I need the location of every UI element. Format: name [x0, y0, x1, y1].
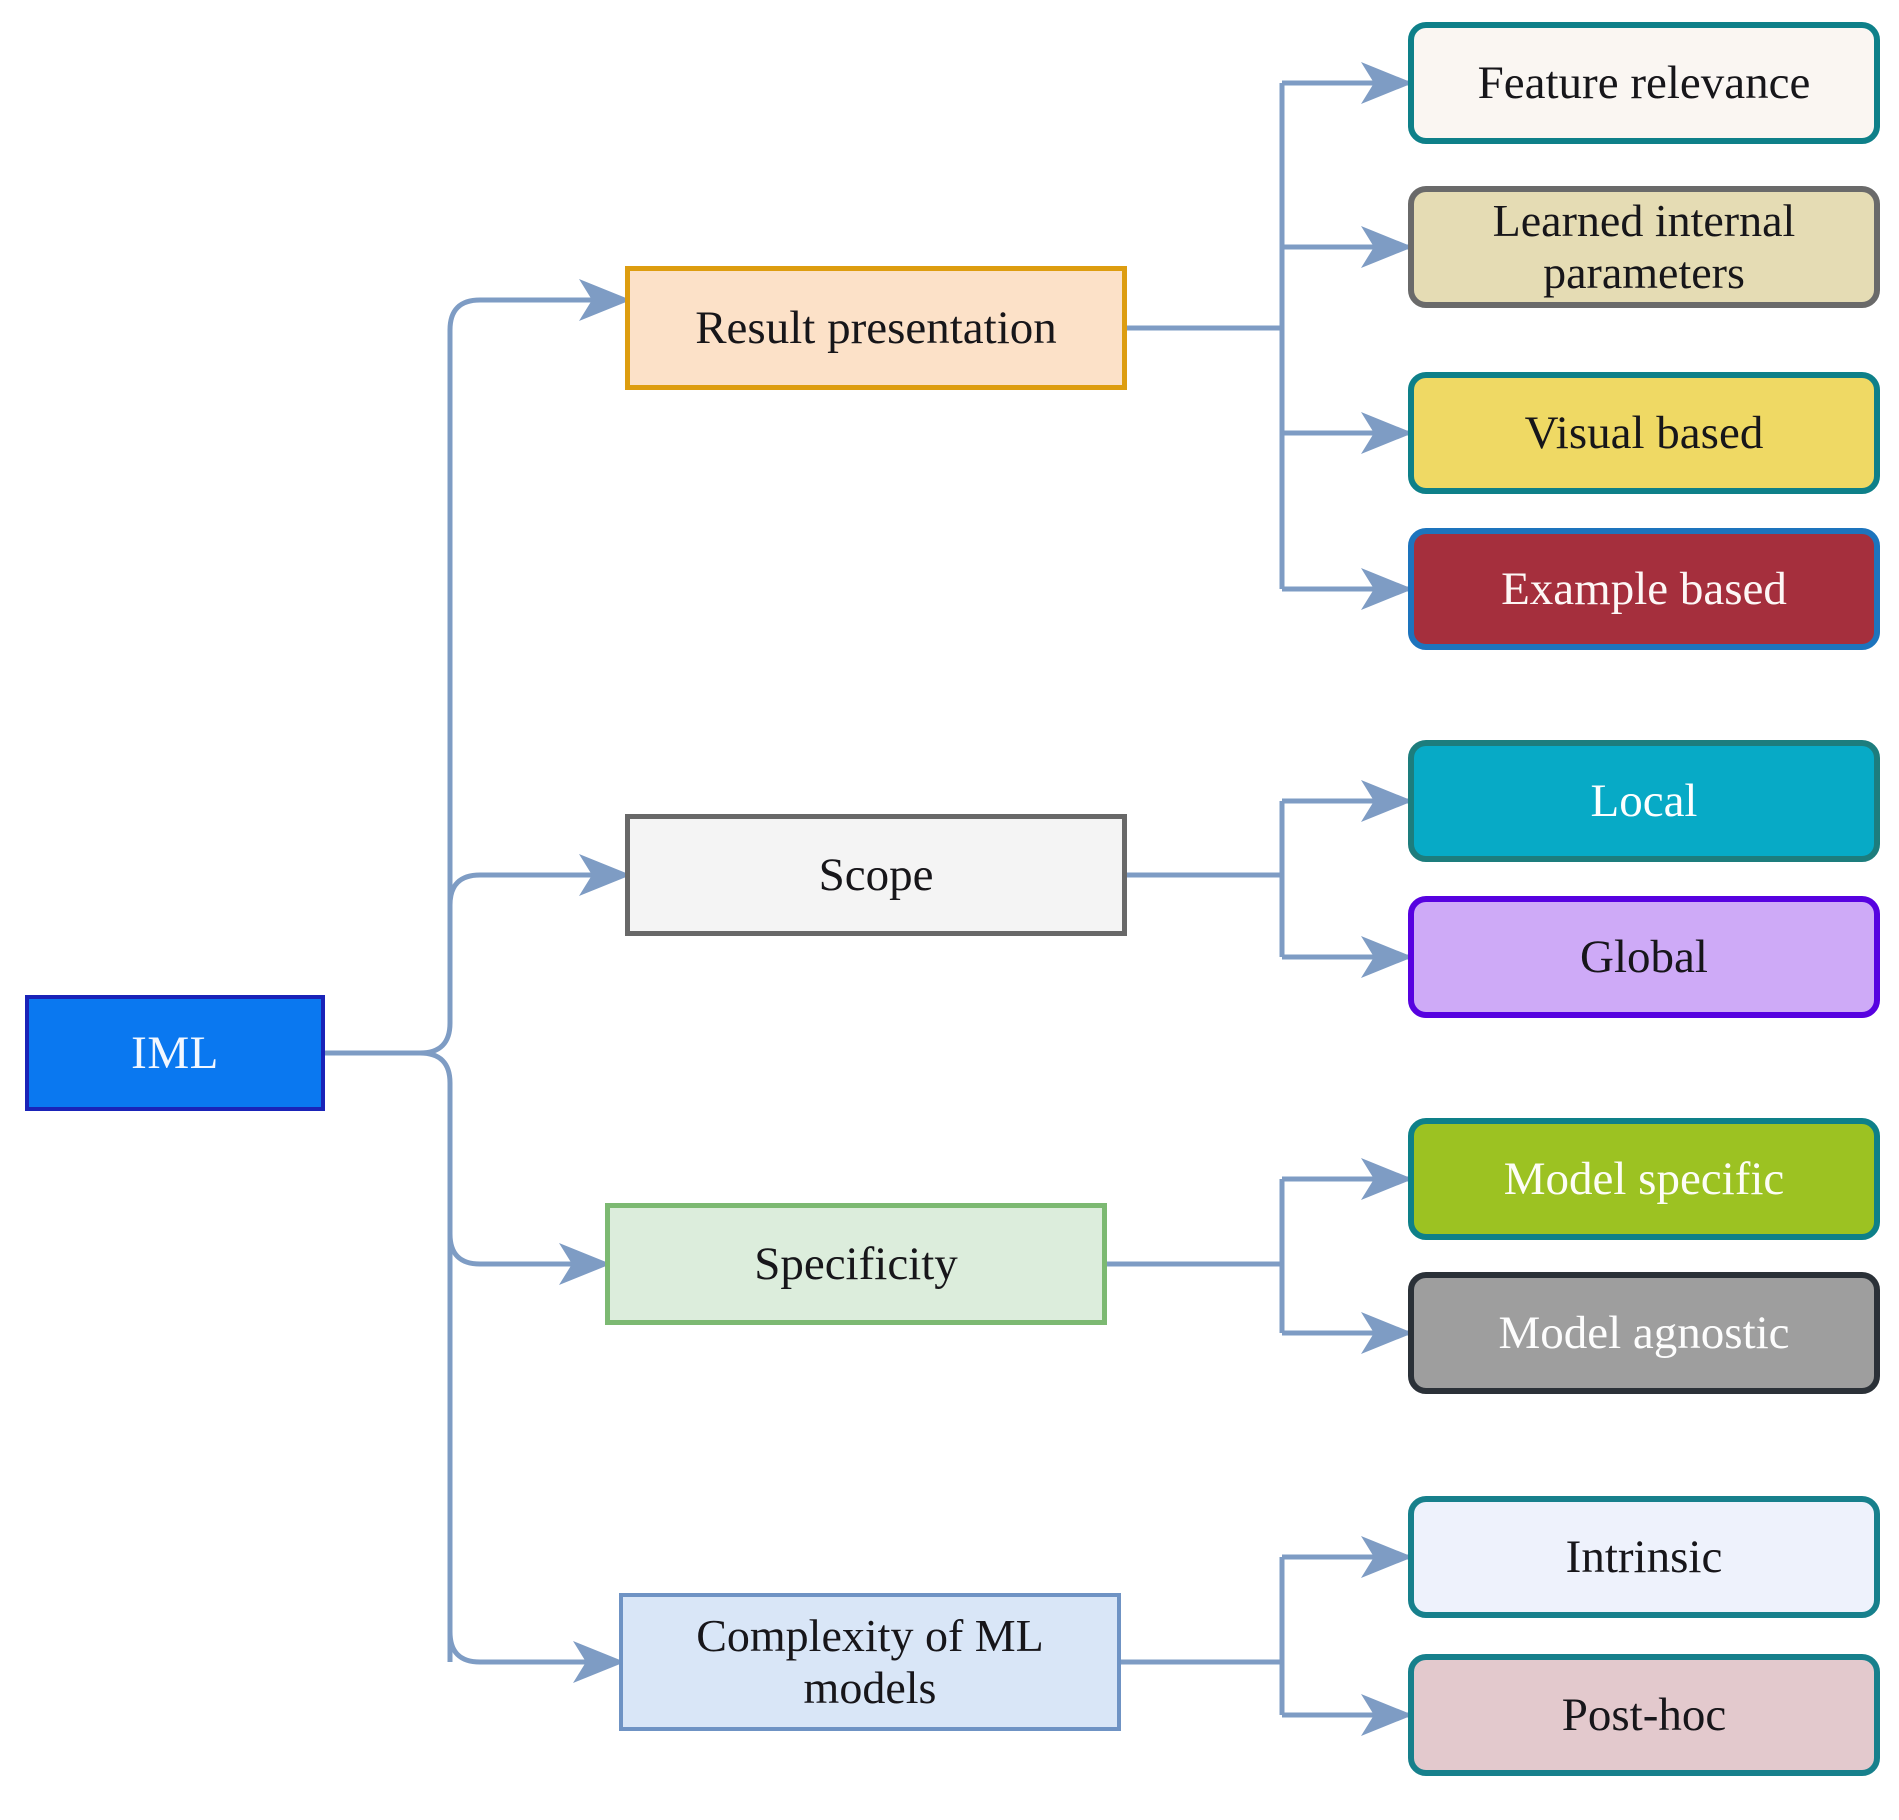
node-label: Specificity: [744, 1238, 968, 1291]
node-label: Complexity of ML models: [623, 1610, 1117, 1713]
node-iml-root[interactable]: IML: [25, 995, 325, 1111]
node-label: Learned internal parameters: [1414, 195, 1874, 298]
node-label: IML: [121, 1027, 229, 1080]
node-complexity-of-ml-models[interactable]: Complexity of ML models: [619, 1593, 1121, 1731]
node-label: Model specific: [1494, 1153, 1795, 1206]
node-label: Scope: [809, 849, 944, 902]
node-result-presentation[interactable]: Result presentation: [625, 266, 1127, 390]
wire-root-to-complexity: [450, 1632, 624, 1662]
wire-root-to-result: [420, 300, 630, 1053]
node-learned-internal-parameters[interactable]: Learned internal parameters: [1408, 186, 1880, 308]
node-scope[interactable]: Scope: [625, 814, 1127, 936]
node-label: Visual based: [1515, 407, 1774, 460]
node-post-hoc[interactable]: Post-hoc: [1408, 1654, 1880, 1776]
node-example-based[interactable]: Example based: [1408, 528, 1880, 650]
node-label: Post-hoc: [1552, 1689, 1737, 1742]
node-label: Feature relevance: [1468, 57, 1821, 110]
node-model-agnostic[interactable]: Model agnostic: [1408, 1272, 1880, 1394]
node-label: Result presentation: [685, 302, 1067, 355]
node-label: Example based: [1491, 563, 1797, 616]
wire-root-to-specificity: [420, 1053, 610, 1264]
node-visual-based[interactable]: Visual based: [1408, 372, 1880, 494]
node-model-specific[interactable]: Model specific: [1408, 1118, 1880, 1240]
node-label: Global: [1570, 931, 1718, 984]
node-local[interactable]: Local: [1408, 740, 1880, 862]
node-feature-relevance[interactable]: Feature relevance: [1408, 22, 1880, 144]
node-intrinsic[interactable]: Intrinsic: [1408, 1496, 1880, 1618]
diagram-canvas: IML Result presentation Scope Specificit…: [0, 0, 1899, 1820]
node-global[interactable]: Global: [1408, 896, 1880, 1018]
node-label: Model agnostic: [1488, 1307, 1799, 1360]
wire-root-to-scope: [450, 875, 630, 905]
node-label: Intrinsic: [1556, 1531, 1733, 1584]
node-label: Local: [1581, 775, 1708, 828]
node-specificity[interactable]: Specificity: [605, 1203, 1107, 1325]
